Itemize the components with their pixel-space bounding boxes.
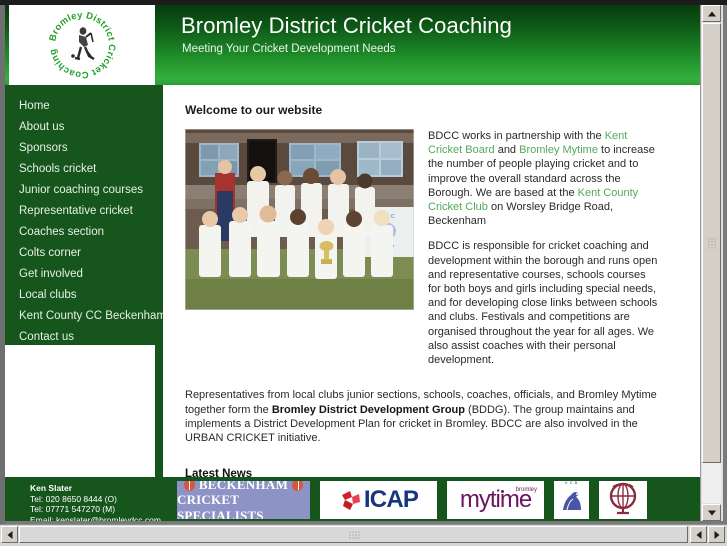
site-logo[interactable]: Bromley District Cricket Coaching: [9, 5, 155, 85]
link-bromley-mytime[interactable]: Bromley Mytime: [519, 144, 598, 156]
sidebar-item-home[interactable]: Home: [5, 96, 155, 117]
content-area: Welcome to our website: [163, 85, 700, 477]
sidebar-item-contact-us[interactable]: Contact us: [5, 327, 155, 348]
horizontal-scrollbar-thumb[interactable]: [19, 526, 688, 543]
contact-email: Email: kenslater@bromleydcc.com: [30, 515, 161, 521]
page-body: Home About us Sponsors Schools cricket J…: [5, 85, 700, 521]
sidebar-item-coaches-section[interactable]: Coaches section: [5, 222, 155, 243]
site-title: Bromley District Cricket Coaching: [181, 13, 512, 39]
web-page: Bromley District Cricket Coaching: [5, 5, 700, 521]
sidebar-item-colts-corner[interactable]: Colts corner: [5, 243, 155, 264]
intro-row: K C C LEY: [185, 129, 658, 378]
sponsor-logo-globe-crest[interactable]: [599, 481, 647, 519]
site-tagline: Meeting Your Cricket Development Needs: [182, 43, 396, 55]
contact-telephone-mobile: Tel: 07771 547270 (M): [30, 504, 161, 515]
kcb-horse-crest-icon: [557, 485, 587, 519]
site-header: Bromley District Cricket Coaching: [5, 5, 700, 85]
sponsor-mytime-superscript: bromley: [516, 487, 537, 493]
team-photo: K C C LEY: [185, 129, 414, 310]
cricket-ball-icon: [184, 481, 195, 491]
contact-telephone-office: Tel: 020 8650 8444 (O): [30, 494, 161, 505]
chevron-up-icon: [708, 11, 716, 16]
sidebar-item-kent-county-cc-beckenham[interactable]: Kent County CC Beckenham: [5, 306, 155, 327]
scroll-left-button-secondary[interactable]: [690, 526, 707, 543]
chevron-left-icon: [7, 531, 12, 539]
intro-seg-2: and: [495, 144, 519, 156]
page-title: Welcome to our website: [185, 103, 658, 117]
site-footer: Ken Slater Tel: 020 8650 8444 (O) Tel: 0…: [5, 477, 700, 521]
sidebar-item-junior-coaching-courses[interactable]: Junior coaching courses: [5, 180, 155, 201]
sponsor-logo-kent-cricket-board[interactable]: K C B: [554, 481, 589, 519]
scroll-right-button[interactable]: [708, 526, 725, 543]
horizontal-scrollbar[interactable]: [0, 524, 727, 546]
sponsor-logos: BECKENHAM CRICKET SPECIALISTS: [177, 481, 647, 519]
paragraph-responsibility: BDCC is responsible for cricket coaching…: [428, 239, 658, 367]
sidebar-divider: [155, 85, 163, 521]
sponsor-logo-mytime[interactable]: bromley mytime: [447, 481, 544, 519]
grip-dots-icon: [348, 530, 359, 539]
globe-crest-icon: [603, 481, 643, 519]
chevron-right-icon: [714, 531, 719, 539]
cricket-ball-icon: [292, 481, 303, 491]
sidebar-item-sponsors[interactable]: Sponsors: [5, 138, 155, 159]
sidebar-item-local-clubs[interactable]: Local clubs: [5, 285, 155, 306]
browser-viewport: Bromley District Cricket Coaching: [0, 0, 727, 545]
scroll-down-button[interactable]: [702, 504, 721, 521]
paragraph-development-group: Representatives from local clubs junior …: [185, 388, 658, 445]
chevron-left-icon: [696, 531, 701, 539]
logo-circular-text-icon: Bromley District Cricket Coaching: [48, 11, 116, 79]
sidebar-item-get-involved[interactable]: Get involved: [5, 264, 155, 285]
vertical-scrollbar-thumb[interactable]: [702, 23, 721, 463]
sidebar-item-representative-cricket[interactable]: Representative cricket: [5, 201, 155, 222]
footer-contact-block: Ken Slater Tel: 020 8650 8444 (O) Tel: 0…: [30, 483, 161, 521]
grip-dots-icon: [707, 238, 716, 249]
sidebar-item-about-us[interactable]: About us: [5, 117, 155, 138]
sidebar-item-schools-cricket[interactable]: Schools cricket: [5, 159, 155, 180]
intro-paragraph: BDCC works in partnership with the Kent …: [428, 129, 658, 228]
chevron-down-icon: [708, 510, 716, 515]
mytime-dot-icon: [501, 490, 504, 493]
sponsor-icap-text: ICAP: [364, 486, 418, 514]
vertical-scrollbar[interactable]: [700, 5, 723, 521]
intro-text: BDCC works in partnership with the Kent …: [428, 129, 658, 378]
main-navigation: Home About us Sponsors Schools cricket J…: [5, 93, 155, 345]
sponsor-logo-icap[interactable]: ICAP: [320, 481, 437, 519]
sponsor-beckenham-line2: CRICKET SPECIALISTS: [177, 492, 310, 520]
sidebar-top-edge: [5, 85, 155, 93]
intro-seg-1: BDCC works in partnership with the: [428, 130, 605, 142]
icap-mark-icon: [339, 488, 363, 512]
para3-bold-bddg: Bromley District Development Group: [272, 404, 465, 416]
scroll-up-button[interactable]: [702, 5, 721, 22]
sponsor-logo-beckenham-cricket-specialists[interactable]: BECKENHAM CRICKET SPECIALISTS: [177, 481, 310, 519]
contact-name: Ken Slater: [30, 483, 161, 494]
scroll-left-button[interactable]: [1, 526, 18, 543]
